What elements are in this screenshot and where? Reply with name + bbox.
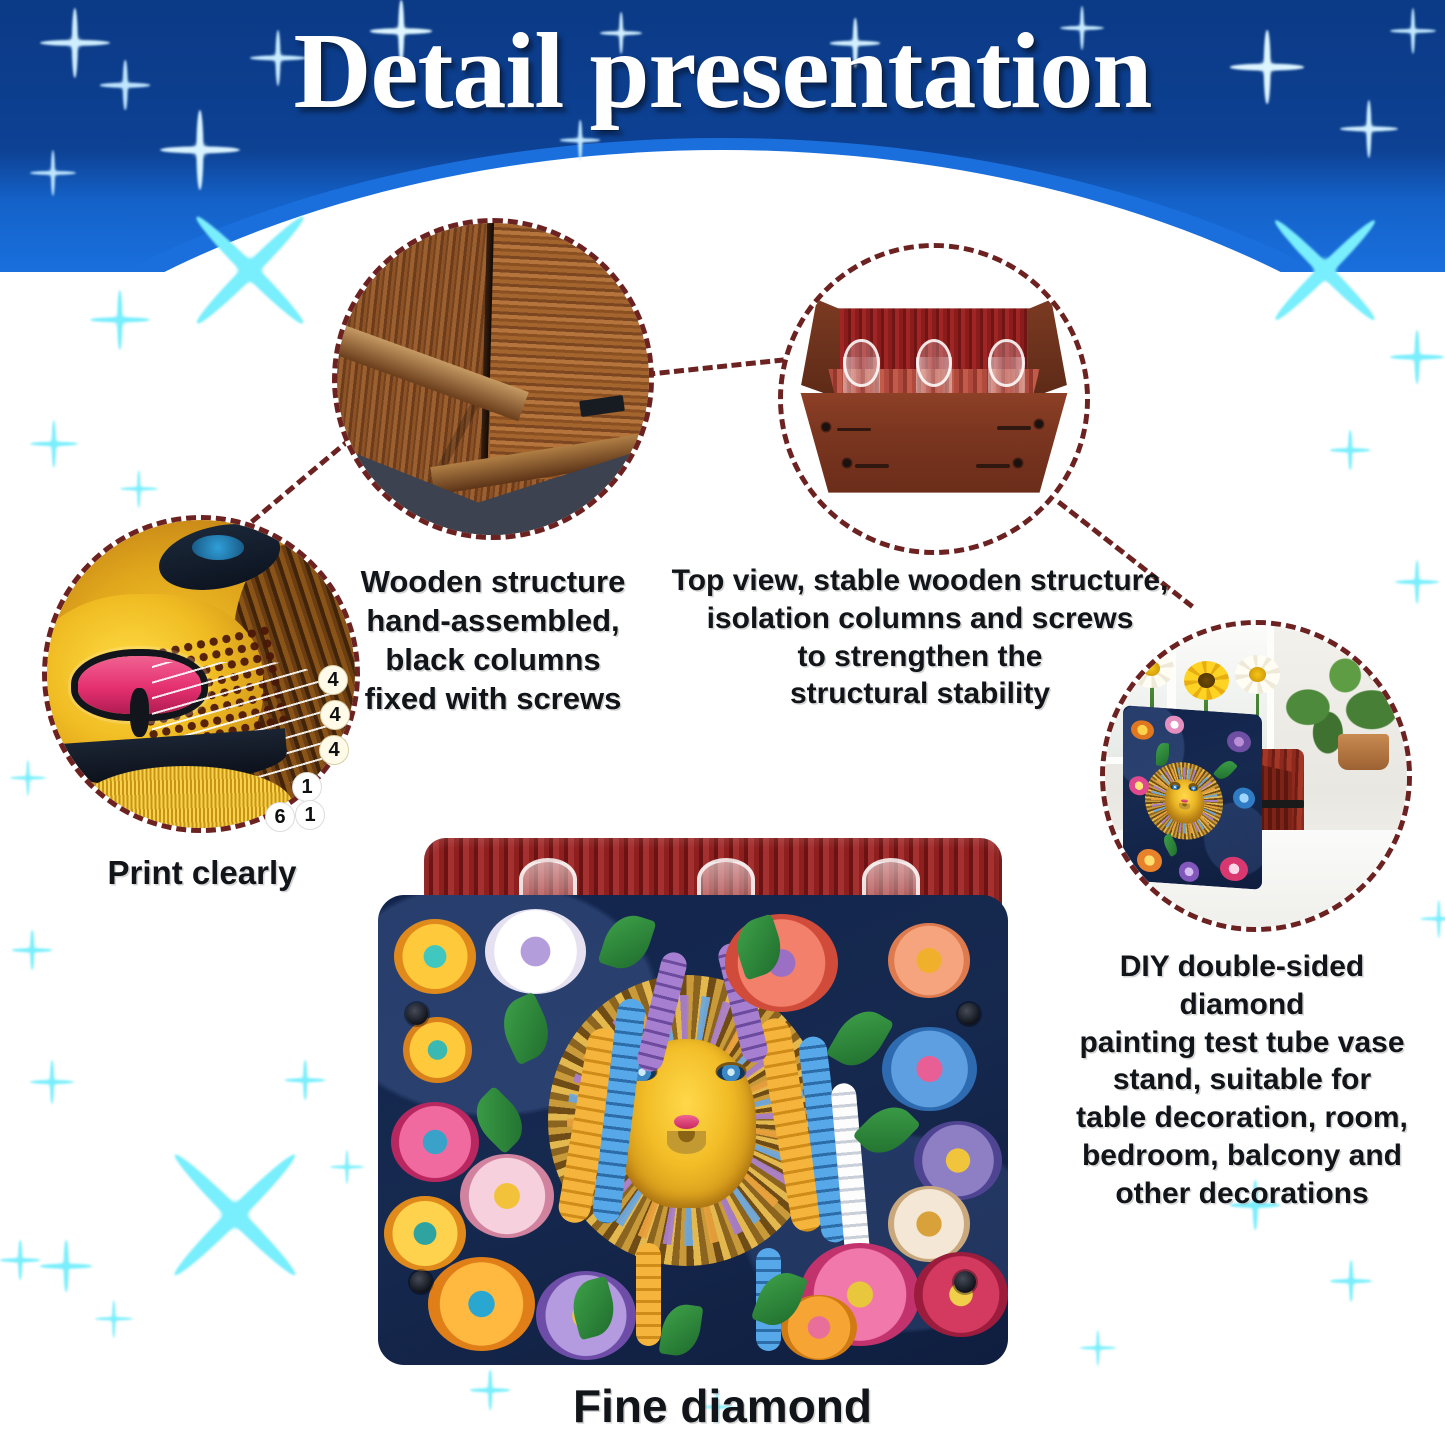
jewel-flower: [485, 909, 586, 994]
top-view-stand-photo: [783, 248, 1085, 550]
caption-wood-structure: Wooden structure hand-assembled, black c…: [338, 562, 648, 718]
drill-number-marker: 4: [319, 735, 349, 765]
caption-line: stand, suitable for: [1044, 1061, 1440, 1099]
lion-head-art: [1145, 759, 1223, 842]
top-view-photo-circle: [778, 243, 1090, 555]
infographic-page: Detail presentation: [0, 0, 1445, 1445]
caption-line: hand-assembled,: [338, 601, 648, 640]
sparkle-icon: [120, 470, 158, 508]
jewel-flower: [394, 919, 476, 994]
drill-number-marker: 6: [265, 802, 295, 832]
sparkle-icon: [1390, 330, 1444, 384]
jewel-flower: [1227, 729, 1251, 752]
sparkle-icon: [1330, 1260, 1372, 1302]
jewel-flower: [914, 1252, 1009, 1337]
sparkle-icon: [0, 1240, 40, 1280]
jewel-flower: [384, 1196, 466, 1271]
jewel-leaf: [1213, 756, 1237, 781]
sparkle-icon: [1420, 900, 1445, 938]
caption-print-clearly: Print clearly: [42, 852, 362, 894]
daisy-flower: [1184, 661, 1229, 700]
header-arc-white: [0, 150, 1445, 272]
sparkle-icon: [30, 150, 76, 196]
caption-line: Wooden structure: [338, 562, 648, 601]
header-banner: Detail presentation: [0, 0, 1445, 272]
daisy-flower: [1235, 655, 1280, 694]
sparkle-icon: [95, 1300, 133, 1338]
sparkle-icon: [90, 290, 150, 350]
sparkle-icon: [330, 1150, 364, 1184]
caption-line: to strengthen the: [660, 638, 1180, 676]
caption-line: Fine diamond: [0, 1378, 1445, 1436]
caption-line: Print clearly: [42, 852, 362, 894]
jewel-flower: [882, 1027, 977, 1112]
caption-lifestyle: DIY double-sided diamond painting test t…: [1044, 948, 1440, 1213]
diamond-painting-vase-stand: [378, 895, 1008, 1365]
caption-line: black columns: [338, 640, 648, 679]
sparkle-icon: [30, 420, 78, 468]
diamond-panel-art: [1123, 705, 1262, 890]
jewel-flower: [1131, 719, 1153, 740]
jewel-flower: [403, 1017, 472, 1083]
caption-fine-diamond: Fine diamond: [0, 1378, 1445, 1436]
caption-line: table decoration, room,: [1044, 1099, 1440, 1137]
jewel-flower: [1179, 861, 1200, 882]
caption-line: other decorations: [1044, 1175, 1440, 1213]
panel-screw: [410, 1271, 432, 1293]
sparkle-icon: [10, 760, 46, 796]
caption-line: fixed with screws: [338, 679, 648, 718]
sparkle-icon: [115, 1095, 355, 1335]
jewel-flower: [1220, 855, 1248, 881]
jewel-flower: [1165, 715, 1184, 734]
jewel-flower: [460, 1154, 555, 1239]
jewel-flower: [1233, 786, 1255, 809]
sparkle-icon: [285, 1060, 325, 1100]
jewel-flower: [391, 1102, 479, 1182]
drill-number-marker: 1: [292, 772, 322, 802]
caption-line: isolation columns and screws: [660, 600, 1180, 638]
panel-screw: [406, 1003, 428, 1025]
caption-top-view: Top view, stable wooden structure, isola…: [660, 562, 1180, 713]
sparkle-icon: [1080, 1330, 1116, 1366]
jewel-leaf: [597, 908, 656, 975]
wood-structure-photo-circle: [332, 218, 654, 540]
jewel-flower: [888, 923, 970, 998]
caption-line: bedroom, balcony and: [1044, 1137, 1440, 1175]
caption-line: painting test tube vase: [1044, 1024, 1440, 1062]
jewel-leaf: [658, 1302, 703, 1358]
wood-corner-joint-photo: [337, 223, 649, 535]
panel-screw: [958, 1003, 980, 1025]
page-title: Detail presentation: [0, 8, 1445, 135]
connector-line-wood-to-topview: [645, 357, 785, 377]
jewel-flower: [428, 1257, 535, 1351]
drill-number-marker: 1: [295, 800, 325, 830]
sparkle-icon: [12, 930, 52, 970]
caption-line: structural stability: [660, 675, 1180, 713]
sparkle-icon: [30, 1060, 74, 1104]
caption-line: Top view, stable wooden structure,: [660, 562, 1180, 600]
caption-line: diamond: [1044, 986, 1440, 1024]
jewel-flower: [888, 1186, 970, 1261]
jewel-flower: [1137, 848, 1162, 873]
sparkle-icon: [1395, 560, 1439, 604]
bead-strand: [636, 1243, 661, 1346]
sparkle-icon: [40, 1240, 92, 1292]
sparkle-icon: [1330, 430, 1370, 470]
panel-screw: [954, 1271, 976, 1293]
caption-line: DIY double-sided: [1044, 948, 1440, 986]
